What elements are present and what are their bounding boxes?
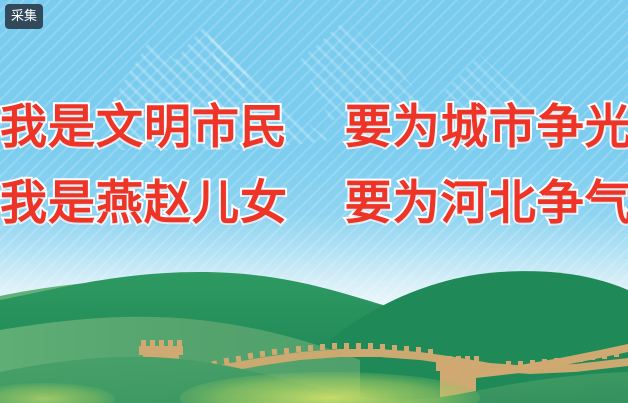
banner-line2-right: 要为河北争气: [345, 180, 628, 227]
banner-line-2: 我是燕赵儿女 要为河北争气: [0, 180, 628, 227]
banner-line1-right: 要为城市争光: [345, 104, 628, 151]
capture-button[interactable]: 采集: [5, 4, 43, 29]
banner-line1-left: 我是文明市民: [0, 104, 288, 151]
banner-line-1: 我是文明市民 要为城市争光: [0, 104, 628, 151]
poster-image: 我是文明市民 要为城市争光 我是燕赵儿女 要为河北争气 采集: [0, 0, 628, 403]
banner-line2-left: 我是燕赵儿女: [0, 180, 288, 227]
